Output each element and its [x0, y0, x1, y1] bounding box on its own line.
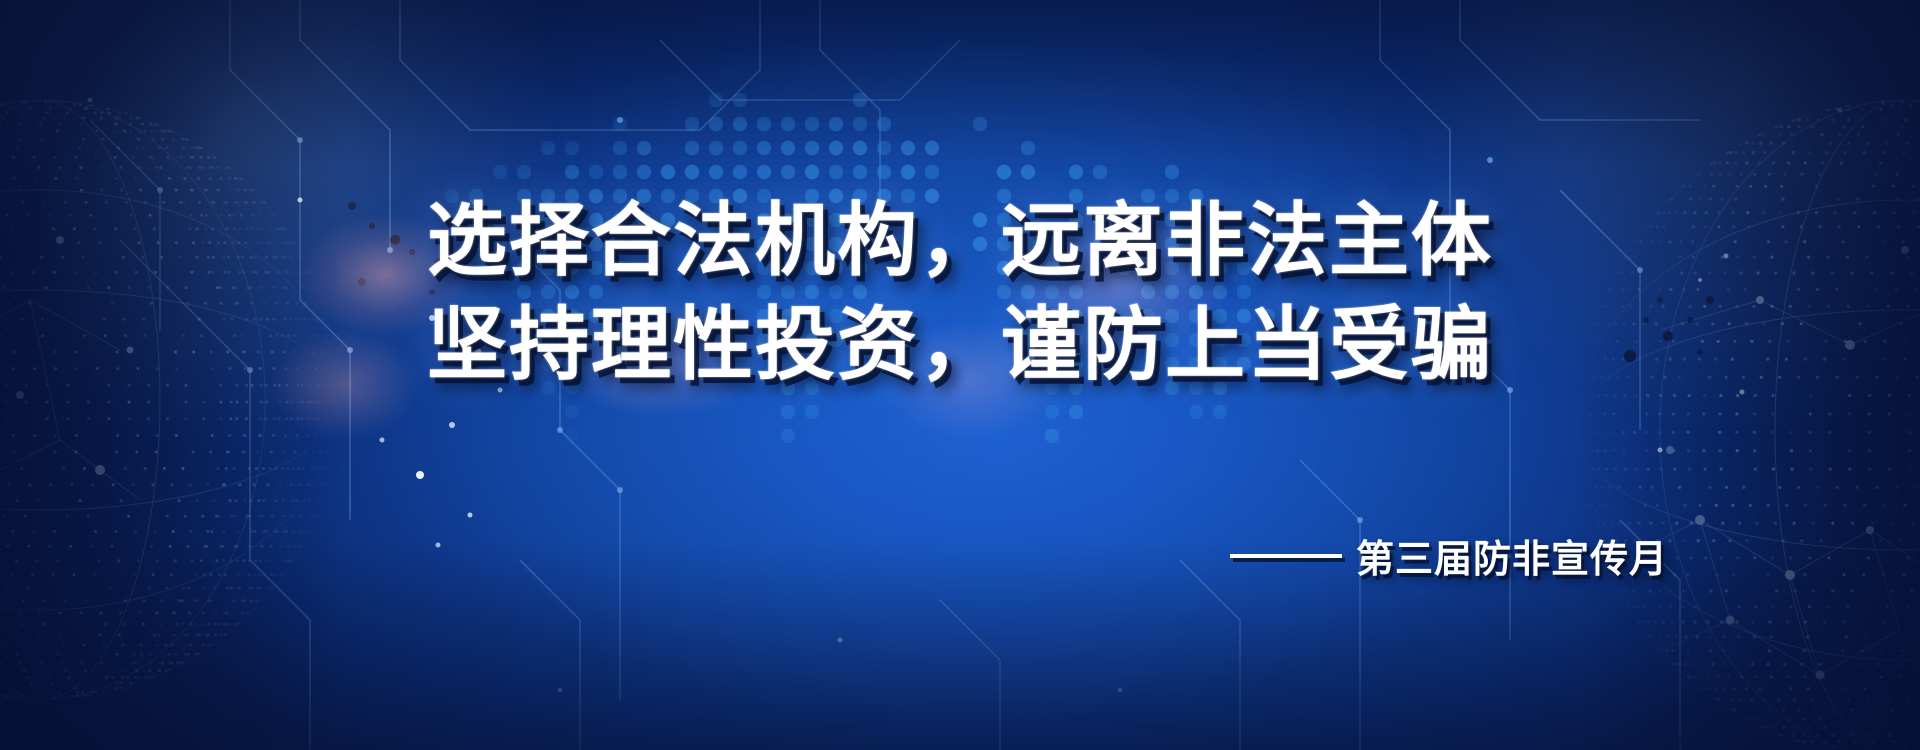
headline-block: 选择合法机构，远离非法主体 坚持理性投资，谨防上当受骗 [427, 196, 1493, 389]
signature-rule-icon [1230, 554, 1342, 558]
promo-banner: 选择合法机构，远离非法主体 坚持理性投资，谨防上当受骗 第三届防非宣传月 [0, 0, 1920, 750]
headline-line-1: 选择合法机构，远离非法主体 [427, 196, 1493, 286]
headline-line-2: 坚持理性投资，谨防上当受骗 [427, 300, 1493, 390]
signature-block: 第三届防非宣传月 [1230, 528, 1668, 583]
banner-content: 选择合法机构，远离非法主体 坚持理性投资，谨防上当受骗 [0, 0, 1920, 750]
signature-text: 第三届防非宣传月 [1356, 528, 1668, 583]
